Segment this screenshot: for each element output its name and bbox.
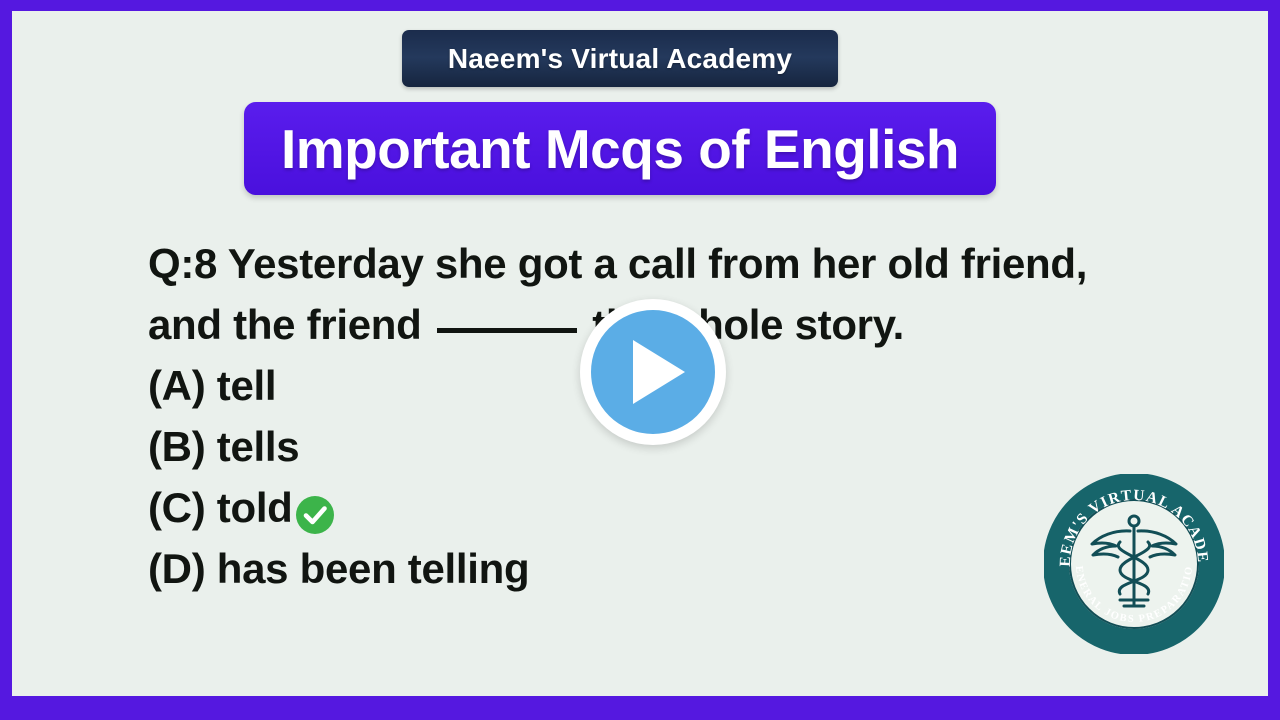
option-c-label: (C) told	[148, 477, 293, 538]
academy-logo: NAEEM'S VIRTUAL ACADEMY GENERAL JOBS PRE…	[1044, 474, 1224, 654]
play-icon	[591, 310, 715, 434]
slide-canvas: Naeem's Virtual Academy Important Mcqs o…	[12, 11, 1268, 696]
title-banner: Important Mcqs of English	[244, 102, 996, 195]
option-a-label: (A) tell	[148, 355, 276, 416]
question-line-2-before: and the friend	[148, 301, 421, 348]
slide-frame: Naeem's Virtual Academy Important Mcqs o…	[0, 0, 1280, 720]
question-line-1: Q:8 Yesterday she got a call from her ol…	[148, 233, 1208, 294]
play-triangle	[633, 340, 685, 404]
option-b-label: (B) tells	[148, 416, 299, 477]
brand-banner: Naeem's Virtual Academy	[402, 30, 838, 87]
title-banner-label: Important Mcqs of English	[281, 117, 959, 181]
play-button[interactable]	[580, 299, 726, 445]
answer-blank	[437, 328, 577, 333]
brand-banner-label: Naeem's Virtual Academy	[448, 43, 792, 75]
option-d-label: (D) has been telling	[148, 538, 529, 599]
green-check-icon	[295, 490, 335, 530]
